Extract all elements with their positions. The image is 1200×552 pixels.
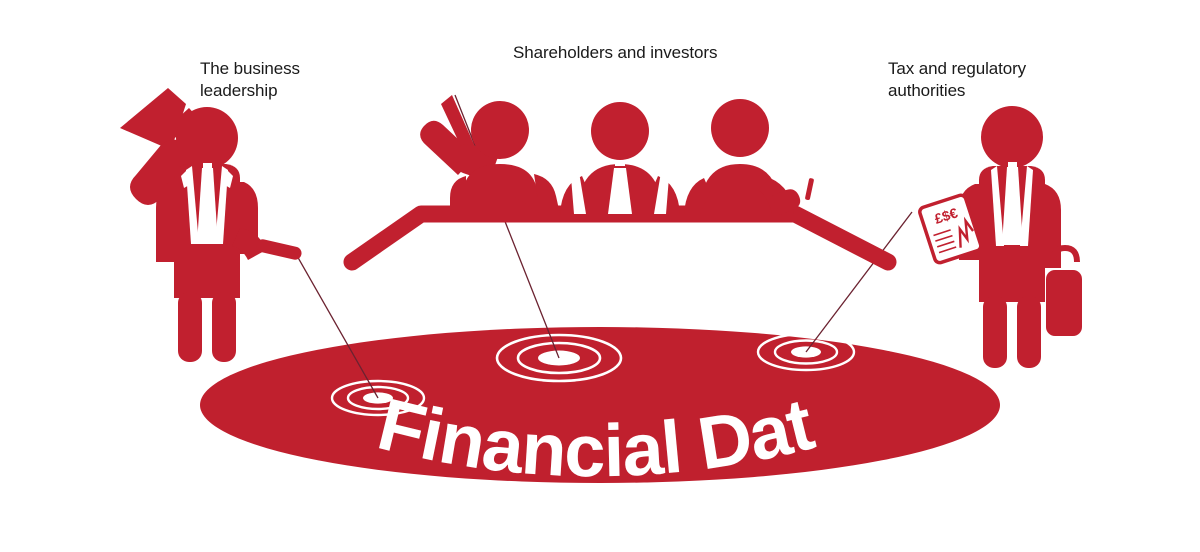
label-tax-regulatory-authorities: Tax and regulatory authorities [888,58,1098,102]
infographic-canvas: Financial Data [0,0,1200,552]
leader-head [176,107,238,169]
businessman-briefcase-icon: £$€ [919,106,1082,368]
figure2-head [591,102,649,160]
figure1-head [471,101,529,159]
briefcase-icon [1046,248,1082,336]
financial-data-caption: Financial Data [0,0,821,492]
label-shareholders-investors: Shareholders and investors [513,42,773,64]
label-business-leadership: The business leadership [200,58,390,102]
seated-person-suit-icon [560,102,680,214]
seated-person-writing-icon [684,99,814,215]
megaphone-businessman-icon [120,86,303,362]
tax-head [981,106,1043,168]
seated-person-raising-hand-icon [420,95,560,214]
figure3-head [711,99,769,157]
